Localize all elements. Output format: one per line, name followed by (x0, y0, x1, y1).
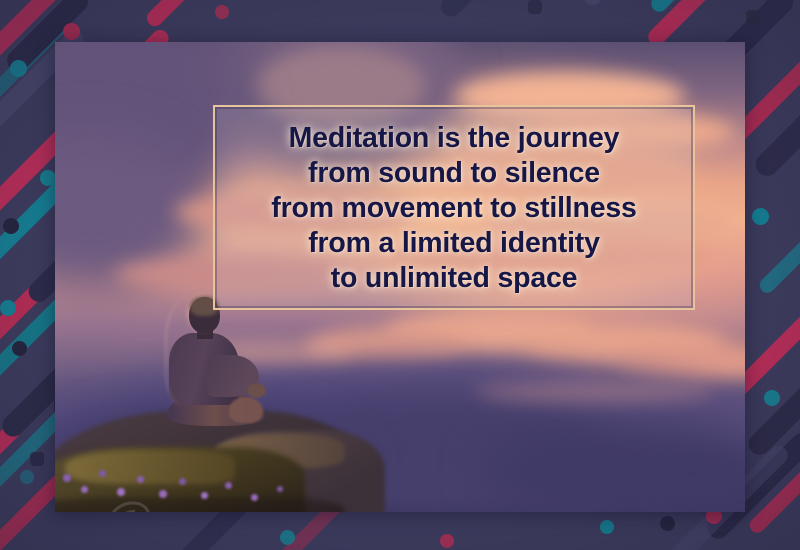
wildflower (81, 486, 88, 493)
dot-teal (600, 520, 614, 534)
grass-highlight (65, 450, 235, 484)
dot-teal (280, 530, 295, 545)
dot-navy (3, 218, 19, 234)
wildflower (159, 490, 167, 498)
dot-crimson (215, 5, 229, 19)
dot-navy (660, 516, 675, 531)
person-rim-light (165, 295, 231, 407)
watermark-logo-icon (99, 497, 155, 512)
quote-image-canvas: Mindful Artwork Meditation is the journe… (0, 0, 800, 550)
person-hand (247, 383, 266, 398)
wildflower (201, 492, 208, 499)
dot-teal (764, 390, 780, 406)
wildflower (277, 486, 283, 492)
quote-text: Meditation is the journey from sound to … (215, 121, 693, 296)
wildflower (117, 488, 125, 496)
stripe-teal (757, 179, 800, 296)
dot-crimson (440, 534, 454, 548)
wildflower (99, 470, 106, 477)
square-navy (30, 452, 44, 466)
cloud-horizon-glow (475, 382, 715, 402)
meditating-person (145, 297, 275, 442)
quote-frame: Meditation is the journey from sound to … (213, 105, 695, 310)
stripe-navy (437, 0, 518, 21)
square-navy (746, 10, 761, 25)
dot-navy (12, 341, 27, 356)
wildflower (179, 478, 186, 485)
dot-teal (20, 470, 34, 484)
wildflower (63, 474, 71, 482)
dot-crimson (63, 23, 80, 40)
dot-teal (0, 300, 16, 316)
square-navy (528, 0, 542, 14)
dot-teal (10, 60, 27, 77)
wildflower (225, 482, 232, 489)
wildflower (137, 476, 144, 483)
dot-teal (752, 208, 769, 225)
dot-teal (40, 170, 56, 186)
wildflower (251, 494, 258, 501)
person-knee (229, 397, 263, 423)
